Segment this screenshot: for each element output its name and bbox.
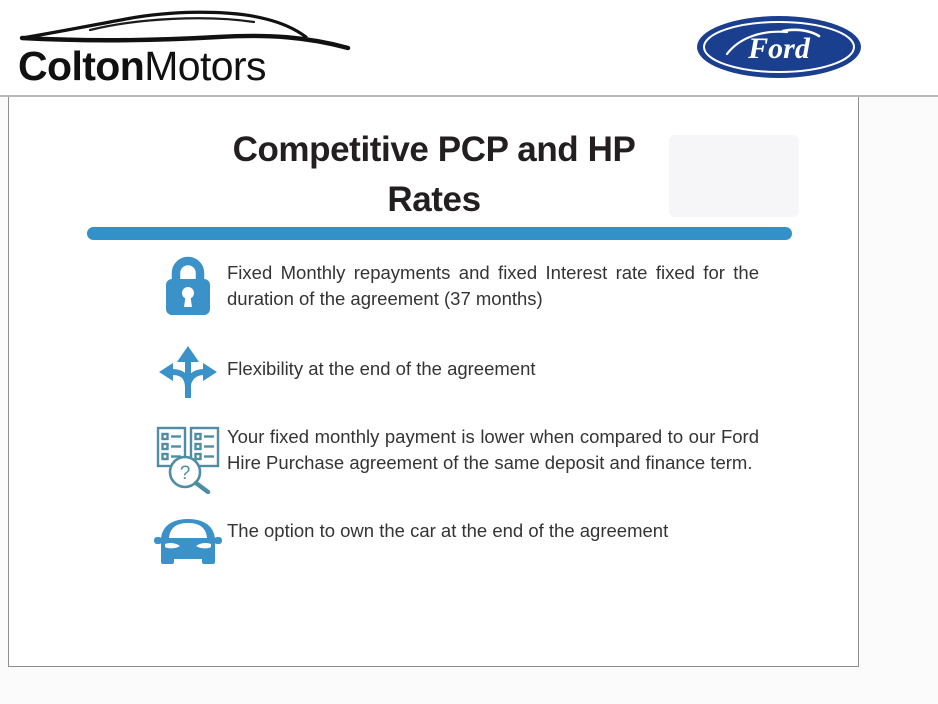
list-item-text: The option to own the car at the end of … xyxy=(227,504,759,544)
title-accent-bar xyxy=(87,227,792,240)
bullet-icon-wrapper xyxy=(149,252,227,324)
page-title-line-2: Rates xyxy=(69,175,799,225)
brand-name-light: Motors xyxy=(144,43,266,89)
list-item-text: Your fixed monthly payment is lower when… xyxy=(227,422,759,476)
list-item: Fixed Monthly repayments and fixed Inter… xyxy=(149,252,759,324)
three-way-arrow-flexibility-icon xyxy=(157,344,219,402)
list-item: The option to own the car at the end of … xyxy=(149,504,759,576)
brand-name-bold: Colton xyxy=(18,43,144,89)
padlock-icon xyxy=(160,254,216,318)
list-item: Flexibility at the end of the agreement xyxy=(149,338,759,410)
benefits-list: Fixed Monthly repayments and fixed Inter… xyxy=(149,252,759,576)
bullet-icon-wrapper xyxy=(149,338,227,410)
bullet-icon-wrapper xyxy=(149,504,227,576)
list-item-text: Fixed Monthly repayments and fixed Inter… xyxy=(227,252,759,312)
slide-content-card: Competitive PCP and HP Rates Fixed Month… xyxy=(8,97,859,667)
list-item: ? Your fixed monthly payment is lower wh… xyxy=(149,422,759,494)
ford-script-text: Ford xyxy=(747,32,811,65)
page-header: ColtonMotors Ford xyxy=(0,0,938,97)
car-front-icon xyxy=(154,516,222,568)
list-item-text: Flexibility at the end of the agreement xyxy=(227,338,759,382)
ford-oval-logo-icon[interactable]: Ford xyxy=(695,14,863,80)
svg-text:?: ? xyxy=(180,463,191,484)
slide-page: ColtonMotors Ford Competitive PCP and HP… xyxy=(0,0,938,704)
bullet-icon-wrapper: ? xyxy=(149,422,227,494)
page-title-line-1: Competitive PCP and HP xyxy=(69,125,799,175)
colton-motors-wordmark: ColtonMotors xyxy=(18,42,358,90)
colton-motors-logo[interactable]: ColtonMotors xyxy=(18,6,358,92)
page-title: Competitive PCP and HP Rates xyxy=(69,125,799,225)
document-comparison-magnifier-question-icon: ? xyxy=(155,424,221,494)
